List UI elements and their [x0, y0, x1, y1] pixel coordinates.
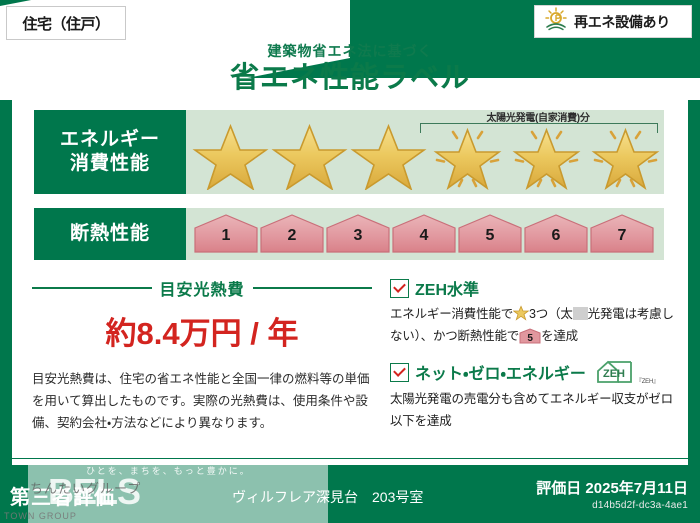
claim-zeh-body-part3: を達成	[541, 329, 578, 343]
energy-cost-value: 約8.4万円 / 年	[32, 308, 372, 353]
insulation-grade-5: 5	[458, 214, 522, 254]
inline-house-grade-icon: 5	[519, 328, 541, 344]
label-footer: 第三者評価 ヴィルフレア深見台 203号室 評価日 2025年7月11日 d14…	[0, 465, 700, 523]
title-subtitle: 建築物省エネ法に基づく	[0, 44, 700, 59]
insulation-grade-1: 1	[194, 214, 258, 254]
claim-zeh-level-body: エネルギー消費性能で3つ（太光発電は考慮しない）、かつ断熱性能で5を達成	[390, 304, 676, 347]
check-icon-zeh-level	[390, 279, 409, 298]
insulation-grade-6-number: 6	[524, 227, 588, 245]
third-party-evaluation-label: 第三者評価	[10, 481, 115, 510]
insulation-label-text: 断熱性能	[70, 222, 150, 246]
claim-net-zero: ネット・ゼロ・エネルギー ZEH 『ZEH』 太陽光発電の売電分も含めてエネルギ…	[390, 359, 676, 432]
claim-zeh-body-star: 3つ（太	[529, 307, 573, 321]
heading-rule-right	[253, 287, 373, 289]
housing-type-label: 住宅（住戸）	[22, 13, 109, 34]
energy-cost-heading-text: 目安光熱費	[160, 276, 245, 300]
zeh-logo-sublabel: 『ZEH』	[636, 376, 659, 385]
claim-net-zero-body: 太陽光発電の売電分も含めてエネルギー収支がゼロ以下を達成	[390, 389, 676, 432]
insulation-performance-row: 断熱性能	[34, 208, 664, 260]
energy-performance-row: エネルギー 消費性能 太陽光発電(自家消費)分	[34, 110, 664, 194]
label-card: エネルギー 消費性能 太陽光発電(自家消費)分	[12, 96, 688, 458]
insulation-grades-panel: 1 2 3	[186, 208, 664, 260]
zeh-claims-block: ZEH水準 エネルギー消費性能で3つ（太光発電は考慮しない）、かつ断熱性能で5を…	[390, 276, 676, 444]
redacted-char	[573, 307, 588, 320]
claim-zeh-body-part1: エネルギー消費性能で	[390, 307, 513, 321]
evaluation-id: d14b5d2f-dc3a-4ae1	[536, 500, 688, 511]
svg-text:ZEH: ZEH	[603, 368, 625, 380]
heading-rule-left	[32, 287, 152, 289]
footer-white-strip	[12, 459, 688, 465]
star-5-solar	[508, 120, 585, 190]
insulation-performance-label: 断熱性能	[34, 208, 186, 260]
energy-stars-panel: 太陽光発電(自家消費)分	[186, 110, 664, 194]
check-icon-net-zero	[390, 363, 409, 382]
energy-cost-note: 目安光熱費は、住宅の省エネ性能と全国一律の燃料等の単価を用いて算出したものです。…	[32, 369, 372, 435]
energy-star-rating	[192, 120, 664, 190]
claim-zeh-level-head: ZEH水準	[390, 276, 676, 300]
energy-label-root: 住宅（住戸） 再エネ設備あり 建築物省エネ法に基づく 省エネ性能ラベル	[0, 0, 700, 523]
energy-label-line1: エネルギー	[60, 128, 160, 152]
renewable-equipment-badge: 再エネ設備あり	[534, 5, 692, 38]
energy-cost-heading: 目安光熱費	[32, 276, 372, 300]
housing-type-chip: 住宅（住戸）	[6, 6, 126, 40]
evaluation-date: 評価日 2025年7月11日	[536, 477, 688, 498]
energy-label-line2: 消費性能	[70, 152, 150, 176]
title-main: 省エネ性能ラベル	[0, 60, 700, 96]
star-6-solar	[587, 120, 664, 190]
insulation-grade-1-number: 1	[194, 227, 258, 245]
insulation-grade-7: 7	[590, 214, 654, 254]
insulation-grade-4-number: 4	[392, 227, 456, 245]
insulation-grade-6: 6	[524, 214, 588, 254]
zeh-logo-icon: ZEH 『ZEH』	[595, 359, 659, 385]
renewable-badge-label: 再エネ設備あり	[574, 12, 670, 32]
label-title-block: 建築物省エネ法に基づく 省エネ性能ラベル	[0, 44, 700, 97]
claim-zeh-level: ZEH水準 エネルギー消費性能で3つ（太光発電は考慮しない）、かつ断熱性能で5を…	[390, 276, 676, 347]
insulation-grade-5-number: 5	[458, 227, 522, 245]
star-1	[192, 120, 269, 190]
energy-performance-label: エネルギー 消費性能	[34, 110, 186, 194]
claim-zeh-level-title: ZEH水準	[415, 276, 479, 300]
insulation-grade-3-number: 3	[326, 227, 390, 245]
inline-star-icon	[513, 305, 529, 321]
star-4-solar	[429, 120, 506, 190]
insulation-grade-7-number: 7	[590, 227, 654, 245]
insulation-grade-4: 4	[392, 214, 456, 254]
property-name: ヴィルフレア深見台 203号室	[232, 487, 423, 507]
star-3	[350, 120, 427, 190]
insulation-grade-2-number: 2	[260, 227, 324, 245]
insulation-grade-3: 3	[326, 214, 390, 254]
claim-net-zero-head: ネット・ゼロ・エネルギー ZEH 『ZEH』	[390, 359, 676, 385]
star-2	[271, 120, 348, 190]
claim-net-zero-title: ネット・ゼロ・エネルギー	[415, 360, 586, 384]
evaluation-info: 評価日 2025年7月11日 d14b5d2f-dc3a-4ae1	[536, 477, 688, 511]
inline-house-grade-number: 5	[519, 330, 541, 347]
energy-cost-block: 目安光熱費 約8.4万円 / 年 目安光熱費は、住宅の省エネ性能と全国一律の燃料…	[32, 276, 372, 435]
insulation-grade-2: 2	[260, 214, 324, 254]
insulation-grade-list: 1 2 3	[194, 214, 654, 254]
sun-energy-icon	[543, 7, 569, 36]
